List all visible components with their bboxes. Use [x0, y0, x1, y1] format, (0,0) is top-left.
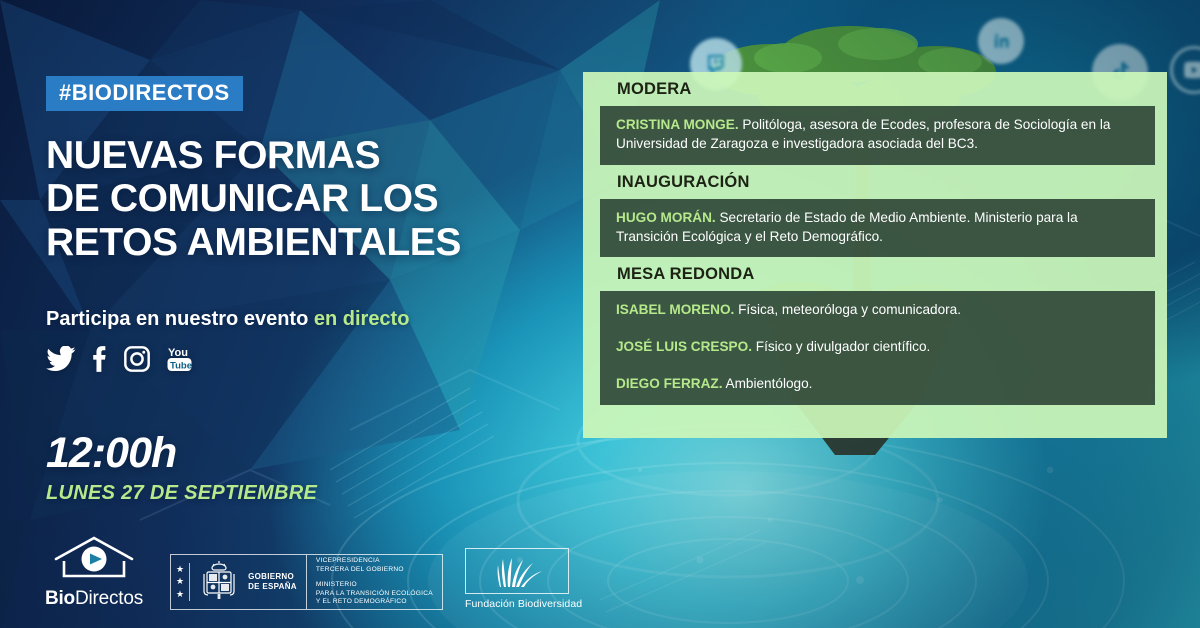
- ministerio-box: VICEPRESIDENCIA TERCERA DEL GOBIERNO MIN…: [307, 554, 443, 610]
- page-title: NUEVAS FORMAS DE COMUNICAR LOS RETOS AMB…: [46, 134, 461, 264]
- speaker-entry: HUGO MORÁN. Secretario de Estado de Medi…: [616, 209, 1139, 247]
- cta-accent: en directo: [314, 308, 410, 330]
- speaker-name: ISABEL MORENO.: [616, 302, 734, 317]
- fundacion-biodiversidad-logo: Fundación Biodiversidad: [465, 548, 569, 610]
- gobierno-box: ★★★: [170, 554, 307, 610]
- grass-icon: [488, 554, 546, 588]
- gobierno-de-espana-logo: ★★★: [170, 554, 443, 610]
- twitter-icon[interactable]: [46, 346, 76, 372]
- hashtag-badge: #BIODIRECTOS: [46, 76, 243, 111]
- event-date: LUNES 27 DE SEPTIEMBRE: [46, 482, 317, 505]
- spanish-coat-of-arms-icon: [197, 561, 241, 603]
- call-to-action: Participa en nuestro evento en directo: [46, 308, 409, 331]
- instagram-icon[interactable]: [123, 345, 151, 373]
- section-heading-inauguracion: INAUGURACIÓN: [583, 165, 1167, 199]
- speaker-name: CRISTINA MONGE.: [616, 117, 739, 132]
- social-links: You Tube: [46, 345, 198, 373]
- speaker-entry: DIEGO FERRAZ. Ambientólogo.: [616, 375, 1139, 394]
- min-line-2: PARA LA TRANSICIÓN ECOLÓGICA: [316, 590, 433, 597]
- speaker-role: Física, meteoróloga y comunicadora.: [734, 302, 961, 317]
- speaker-entry: JOSÉ LUIS CRESPO. Físico y divulgador ci…: [616, 338, 1139, 357]
- speaker-entry: CRISTINA MONGE. Politóloga, asesora de E…: [616, 116, 1139, 154]
- footer-logos: BioDirectos ★★★: [40, 535, 569, 610]
- event-poster: #BIODIRECTOS NUEVAS FORMAS DE COMUNICAR …: [0, 0, 1200, 628]
- gobierno-text: GOBIERNO DE ESPAÑA: [248, 572, 297, 591]
- section-body-mesa-redonda: ISABEL MORENO. Física, meteoróloga y com…: [600, 291, 1155, 404]
- headline-line-1: NUEVAS FORMAS: [46, 134, 461, 177]
- bio-thin: Directos: [75, 588, 143, 609]
- min-line-1: MINISTERIO: [316, 581, 357, 588]
- vicepresidencia-text: VICEPRESIDENCIA TERCERA DEL GOBIERNO: [316, 557, 433, 574]
- headline-line-2: DE COMUNICAR LOS: [46, 177, 461, 220]
- cta-text: Participa en nuestro evento: [46, 308, 314, 330]
- speaker-name: DIEGO FERRAZ.: [616, 376, 723, 391]
- house-play-icon: [40, 535, 148, 579]
- svg-text:Tube: Tube: [170, 361, 192, 372]
- schedule-block: 12:00h LUNES 27 DE SEPTIEMBRE: [46, 432, 317, 505]
- biodirectos-wordmark: BioDirectos: [40, 588, 148, 610]
- biodirectos-logo: BioDirectos: [40, 535, 148, 610]
- section-heading-mesa-redonda: MESA REDONDA: [583, 257, 1167, 291]
- section-heading-modera: MODERA: [583, 72, 1167, 106]
- stars-icon: ★★★: [176, 563, 190, 601]
- bio-bold: Bio: [45, 588, 75, 609]
- speaker-name: HUGO MORÁN.: [616, 210, 716, 225]
- speaker-entry: ISABEL MORENO. Física, meteoróloga y com…: [616, 301, 1139, 320]
- headline-line-3: RETOS AMBIENTALES: [46, 221, 461, 264]
- ministerio-text: MINISTERIO PARA LA TRANSICIÓN ECOLÓGICA …: [316, 581, 433, 607]
- fundacion-name: Fundación Biodiversidad: [465, 598, 569, 610]
- min-line-3: Y EL RETO DEMOGRÁFICO: [316, 598, 407, 605]
- vice-line-2: TERCERA DEL GOBIERNO: [316, 566, 404, 573]
- vice-line-1: VICEPRESIDENCIA: [316, 557, 380, 564]
- program-panel: MODERA CRISTINA MONGE. Politóloga, aseso…: [583, 72, 1167, 438]
- youtube-icon[interactable]: You Tube: [166, 345, 198, 373]
- left-column: #BIODIRECTOS NUEVAS FORMAS DE COMUNICAR …: [46, 0, 566, 628]
- grass-icon-frame: [465, 548, 569, 594]
- event-time: 12:00h: [46, 432, 317, 475]
- section-body-inauguracion: HUGO MORÁN. Secretario de Estado de Medi…: [600, 199, 1155, 258]
- gobierno-line-1: GOBIERNO: [248, 572, 297, 582]
- svg-text:You: You: [168, 347, 188, 359]
- section-body-modera: CRISTINA MONGE. Politóloga, asesora de E…: [600, 106, 1155, 165]
- speaker-role: Físico y divulgador científico.: [752, 339, 930, 354]
- speaker-role: Ambientólogo.: [723, 376, 813, 391]
- speaker-name: JOSÉ LUIS CRESPO.: [616, 339, 752, 354]
- facebook-icon[interactable]: [91, 345, 108, 373]
- gobierno-line-2: DE ESPAÑA: [248, 582, 297, 592]
